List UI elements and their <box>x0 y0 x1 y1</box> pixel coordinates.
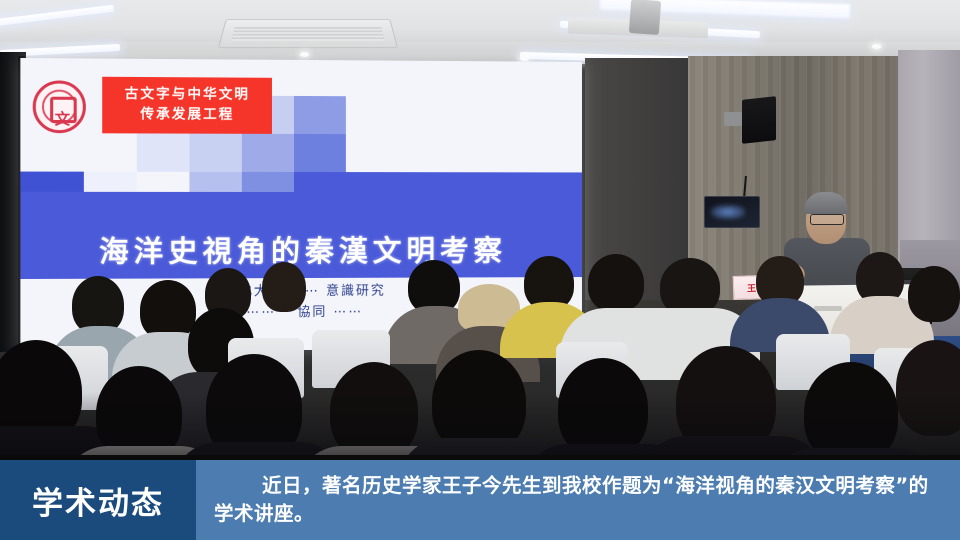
audience-head <box>588 254 644 312</box>
institution-seal-icon: 文 <box>33 80 86 133</box>
ceiling <box>0 0 960 62</box>
slide-mosaic-square <box>294 96 346 134</box>
caption-text-panel: 近日，著名历史学家王子今先生到我校作题为“海洋视角的秦汉文明考察”的学术讲座。 <box>196 460 960 540</box>
banner-line-1: 古文字与中华文明 <box>125 85 250 105</box>
audience-head <box>908 266 960 322</box>
air-conditioner-vent <box>218 19 398 48</box>
caption-text: 近日，著名历史学家王子今先生到我校作题为“海洋视角的秦汉文明考察”的学术讲座。 <box>214 472 946 527</box>
audience <box>0 250 960 462</box>
ceiling-projector <box>629 0 661 35</box>
slide-mosaic-square <box>137 133 190 171</box>
caption-bar: 学术动态 近日，著名历史学家王子今先生到我校作题为“海洋视角的秦汉文明考察”的学… <box>0 460 960 540</box>
audience-head <box>140 280 196 340</box>
foreground-shadow <box>0 392 960 462</box>
ceiling-downlight <box>872 44 881 49</box>
ceiling-downlight <box>300 52 309 57</box>
slide-mosaic-square <box>189 134 241 172</box>
caption-category-panel: 学术动态 <box>0 460 196 540</box>
ceiling-led-strip <box>0 5 114 27</box>
screenshot-root: 文 古文字与中华文明 传承发展工程 海洋史視角的秦漢文明考察 西北大學 ⋯⋯ 意… <box>0 0 960 540</box>
slide-mosaic-square <box>294 134 346 172</box>
wall-loudspeaker <box>742 96 776 144</box>
lecture-hall-photo: 文 古文字与中华文明 传承发展工程 海洋史視角的秦漢文明考察 西北大學 ⋯⋯ 意… <box>0 0 960 462</box>
banner-line-2: 传承发展工程 <box>140 105 234 125</box>
wall-monitor <box>704 196 760 228</box>
seal-glyph: 文 <box>54 112 70 128</box>
eyeglasses-icon <box>810 214 844 225</box>
caption-category-label: 学术动态 <box>32 478 164 523</box>
slide-red-banner: 古文字与中华文明 传承发展工程 <box>102 77 272 134</box>
ceiling-downlight <box>520 56 529 61</box>
audience-head <box>262 262 306 312</box>
slide-mosaic-square <box>242 134 294 172</box>
